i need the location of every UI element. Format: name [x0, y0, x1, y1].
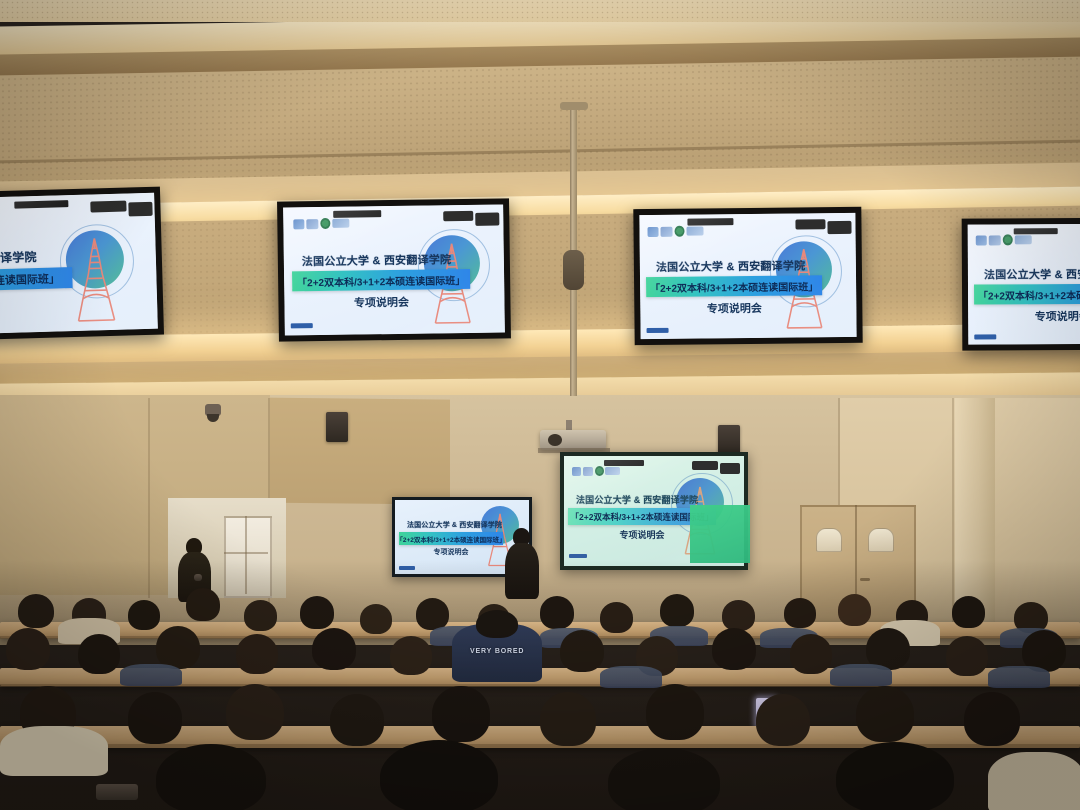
logo-university-icon	[647, 226, 658, 236]
seat-back	[120, 664, 182, 686]
green-side-panel	[690, 505, 750, 563]
pole-ceiling-bracket	[560, 102, 588, 110]
slide-corner-tag-2	[128, 202, 152, 217]
logo-seal-icon	[674, 226, 684, 237]
foreground-head	[156, 744, 266, 810]
slide-footer-tag	[569, 554, 587, 558]
slide-surface: 法国公立大学 & 西安翻译学院 「2+2双本科/3+1+2本硕连读国际班」 专项…	[0, 193, 158, 336]
slide-top-tag	[333, 210, 381, 218]
audience-head	[856, 686, 914, 742]
ceiling-monitor-right-center[interactable]: 法国公立大学 & 西安翻译学院 「2+2双本科/3+1+2本硕连读国际班」 专项…	[633, 207, 862, 345]
audience-head	[952, 596, 985, 628]
audience-head	[660, 594, 694, 627]
audience-head	[300, 596, 334, 629]
slide-title: 法国公立大学 & 西安翻译学院	[984, 266, 1080, 283]
audience-head	[390, 636, 432, 675]
audience-body	[0, 726, 108, 776]
audience-head	[330, 694, 384, 746]
wall-column	[955, 398, 995, 628]
slide-banner: 「2+2双本科/3+1+2本硕连读国际班」	[0, 267, 73, 294]
slide-top-tag	[687, 218, 733, 225]
window-mullion-horizontal	[224, 552, 268, 554]
audience-head	[784, 598, 816, 628]
logo-university-icon	[293, 219, 304, 229]
slide-corner-tag	[90, 201, 126, 213]
seat-back	[600, 666, 662, 688]
audience-head	[722, 600, 755, 631]
logo-seal-icon	[1003, 234, 1013, 245]
logo-seal-icon	[595, 466, 604, 476]
audience-head	[226, 684, 284, 740]
audience-head	[756, 694, 810, 746]
logo-university-icon	[976, 235, 987, 245]
logo-school-icon	[686, 226, 703, 235]
ceiling-top-perforation	[0, 0, 1080, 22]
slide-footer-tag	[291, 323, 313, 328]
wall-speaker-right	[718, 425, 740, 455]
audience-head	[156, 626, 200, 669]
slide-corner-tag	[443, 211, 473, 221]
foreground-head	[836, 742, 954, 810]
audience-head	[646, 684, 704, 740]
ceiling-monitor-left-center[interactable]: 法国公立大学 & 西安翻译学院 「2+2双本科/3+1+2本硕连读国际班」 专项…	[277, 198, 511, 341]
slide-footer-tag	[974, 334, 996, 339]
audience-head	[236, 634, 278, 674]
audience-head	[540, 596, 574, 629]
audience-head	[186, 588, 220, 621]
audience-head	[244, 600, 277, 631]
slide-title: 法国公立大学 & 西安翻译学院	[407, 520, 502, 530]
logo-seal-icon	[320, 218, 330, 229]
left-window	[224, 516, 272, 598]
slide-subtitle: 专项说明会	[0, 291, 73, 314]
phone-on-desk[interactable]	[96, 784, 138, 800]
slide-banner: 「2+2双本科/3+1+2本硕连读国际班」	[646, 275, 822, 297]
pole-junction-box	[563, 250, 584, 290]
wall-speaker-left	[326, 412, 348, 442]
audience-head	[476, 610, 518, 638]
audience-head	[416, 598, 449, 630]
slide-banner: 「2+2双本科/3+1+2本硕连读国际班」	[974, 284, 1080, 305]
audience-head	[128, 692, 182, 744]
slide-surface: 法国公立大学 & 西安翻译学院 「2+2双本科/3+1+2本硕连读国际班」 专项…	[639, 213, 856, 339]
logo-partner-icon	[988, 235, 1001, 245]
slide-corner-tag-2	[827, 221, 851, 234]
slide-footer-tag	[647, 328, 669, 333]
hoodie-graphic-text: VERY BORED	[470, 648, 524, 655]
slide-banner: 「2+2双本科/3+1+2本硕连读国际班」	[292, 269, 470, 291]
slide-subtitle: 专项说明会	[292, 293, 470, 311]
audience-head	[790, 634, 832, 674]
logo-partner-icon	[306, 219, 319, 229]
slide-title: 法国公立大学 & 西安翻译学院	[0, 248, 37, 270]
slide-corner-tag-2	[720, 463, 740, 474]
eiffel-tower-icon	[67, 234, 124, 329]
slide-subtitle: 专项说明会	[399, 547, 503, 557]
slide-corner-tag	[795, 219, 825, 229]
slide-corner-tag-2	[475, 213, 499, 226]
wall-seam-left	[148, 398, 150, 598]
handheld-phone	[194, 574, 202, 581]
audience-head	[540, 692, 596, 746]
slide-subtitle: 专项说明会	[974, 308, 1080, 325]
window-mullion-vertical	[245, 516, 247, 594]
door-window-left	[816, 528, 842, 552]
slide-footer-tag	[399, 566, 415, 570]
seat-back	[830, 664, 892, 686]
slide-title: 法国公立大学 & 西安翻译学院	[576, 493, 698, 506]
audience-head	[360, 604, 392, 634]
slide-surface: 法国公立大学 & 西安翻译学院 「2+2双本科/3+1+2本硕连读国际班」 专项…	[283, 204, 505, 335]
audience-head	[600, 602, 633, 633]
logo-school-icon	[605, 467, 620, 475]
audience-head	[18, 594, 54, 628]
audience-head	[838, 594, 871, 626]
slide-banner: 「2+2双本科/3+1+2本硕连读国际班」	[399, 532, 503, 545]
audience-head	[946, 636, 988, 676]
slide-title: 法国公立大学 & 西安翻译学院	[302, 251, 452, 269]
logo-partner-icon	[583, 467, 594, 476]
slide-title: 法国公立大学 & 西安翻译学院	[656, 257, 806, 275]
slide-corner-tag	[692, 461, 718, 470]
audience-head	[6, 628, 50, 670]
projector-lens	[548, 434, 562, 446]
logo-partner-icon	[660, 226, 673, 236]
wall-seam-column	[952, 398, 954, 628]
slide-subtitle: 专项说明会	[646, 299, 822, 317]
ceiling-monitor-left-edge[interactable]: 法国公立大学 & 西安翻译学院 「2+2双本科/3+1+2本硕连读国际班」 专项…	[0, 187, 164, 342]
lecture-hall-photo: 法国公立大学 & 西安翻译学院 「2+2双本科/3+1+2本硕连读国际班」 专项…	[0, 0, 1080, 810]
audience-head	[964, 692, 1020, 746]
audience-head	[432, 686, 490, 742]
slide-top-tag	[14, 200, 68, 209]
audience-head	[312, 628, 356, 670]
audience-head	[128, 600, 160, 630]
audience-head	[78, 634, 120, 674]
audience-head	[560, 630, 604, 672]
door-handle[interactable]	[860, 578, 870, 581]
ceiling-monitor-right-edge[interactable]: 法国公立大学 & 西安翻译学院 「2+2双本科/3+1+2本硕连读国际班」 专项…	[962, 217, 1080, 350]
seat-back	[988, 666, 1050, 688]
slide-surface: 法国公立大学 & 西安翻译学院 「2+2双本科/3+1+2本硕连读国际班」 专项…	[968, 223, 1080, 344]
logo-university-icon	[572, 467, 581, 476]
foreground-body	[988, 752, 1080, 810]
logo-school-icon	[332, 219, 349, 228]
door-window-right	[868, 528, 894, 552]
audience-head	[712, 628, 756, 670]
foreground-head	[608, 748, 720, 810]
presenter-body	[505, 543, 539, 599]
logo-school-icon	[1014, 235, 1031, 244]
foreground-head	[380, 740, 498, 810]
